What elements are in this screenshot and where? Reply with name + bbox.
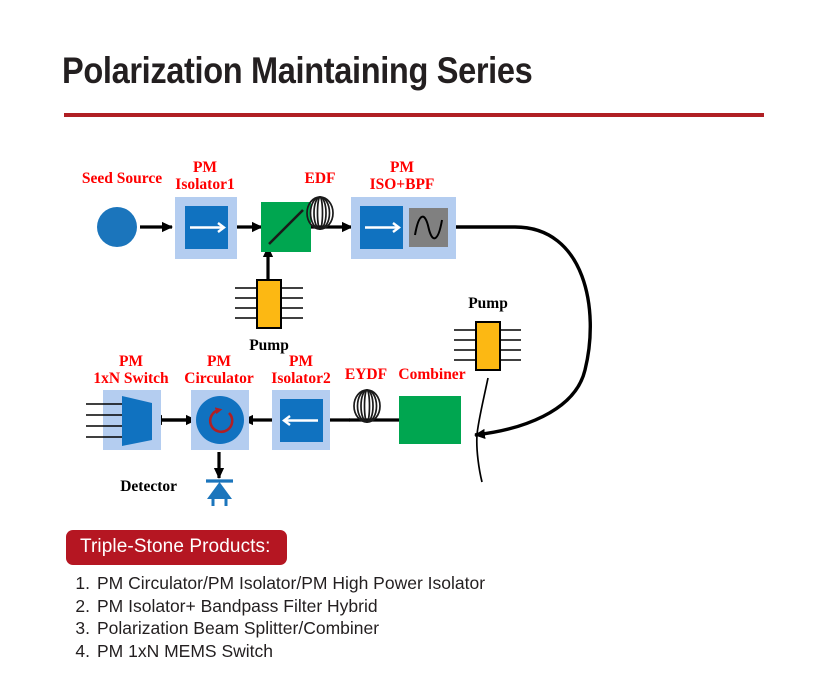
list-item-label: PM Circulator/PM Isolator/PM High Power … [97,572,485,595]
list-item-label: Polarization Beam Splitter/Combiner [97,617,379,640]
products-banner: Triple-Stone Products: [66,530,287,565]
list-item: 1. PM Circulator/PM Isolator/PM High Pow… [66,572,485,595]
page-title: Polarization Maintaining Series [62,50,532,92]
label-detector: Detector [120,478,177,495]
list-item-number: 2. [66,595,90,618]
label-combiner: Combiner [398,366,465,383]
component-pump-top: Pump [235,280,303,354]
component-pump-right: Pump [454,295,521,370]
component-wdm-green-splitter [261,202,311,252]
pump-top-body [257,280,281,328]
component-pm-iso-bpf [351,197,456,259]
label-pm-isolator1-line2: Isolator1 [175,176,234,193]
label-pm-iso-bpf-line1: PM [390,159,414,176]
label-pump-top: Pump [249,337,289,354]
pm-switch-body [122,396,152,446]
label-eydf: EYDF [345,366,387,383]
component-pm-circulator [191,390,249,450]
component-detector: Detector [120,478,233,506]
list-item-number: 4. [66,640,90,663]
seed-source-circle [97,207,137,247]
fiber-pump2-tail [477,378,488,482]
list-item: 4. PM 1xN MEMS Switch [66,640,485,663]
label-pm-circulator-line1: PM [207,353,231,370]
slide-canvas: Polarization Maintaining Series Seed Sou… [0,0,829,689]
label-pm-iso-bpf-line2: ISO+BPF [370,176,435,193]
detector-triangle-icon [207,482,232,499]
label-edf: EDF [305,170,336,187]
list-item: 3. Polarization Beam Splitter/Combiner [66,617,485,640]
label-seed-source: Seed Source [82,170,162,187]
component-combiner [399,396,461,444]
label-pm-isolator2-line2: Isolator2 [271,370,331,387]
list-item-number: 3. [66,617,90,640]
pump-right-body [476,322,500,370]
pm-circulator-body [196,396,244,444]
label-pm-switch-line2: 1xN Switch [93,370,169,387]
label-pm-isolator1-line1: PM [193,159,217,176]
list-item-label: PM Isolator+ Bandpass Filter Hybrid [97,595,378,618]
label-pm-circulator-line2: Circulator [184,370,254,387]
list-item-label: PM 1xN MEMS Switch [97,640,273,663]
component-pm-isolator1 [175,197,237,259]
title-divider [64,113,764,117]
optical-system-diagram: Seed Source PM Isolator1 EDF PM ISO+BPF [0,130,829,520]
product-list: 1. PM Circulator/PM Isolator/PM High Pow… [66,572,485,662]
eydf-fiber-coil [354,390,380,422]
list-item-number: 1. [66,572,90,595]
component-pm-1xn-switch [86,390,161,450]
label-pump-right: Pump [468,295,508,312]
label-pm-switch-line1: PM [119,353,143,370]
component-pm-isolator2 [272,390,330,450]
edf-fiber-coil [307,197,333,229]
label-pm-isolator2-line1: PM [289,353,313,370]
list-item: 2. PM Isolator+ Bandpass Filter Hybrid [66,595,485,618]
